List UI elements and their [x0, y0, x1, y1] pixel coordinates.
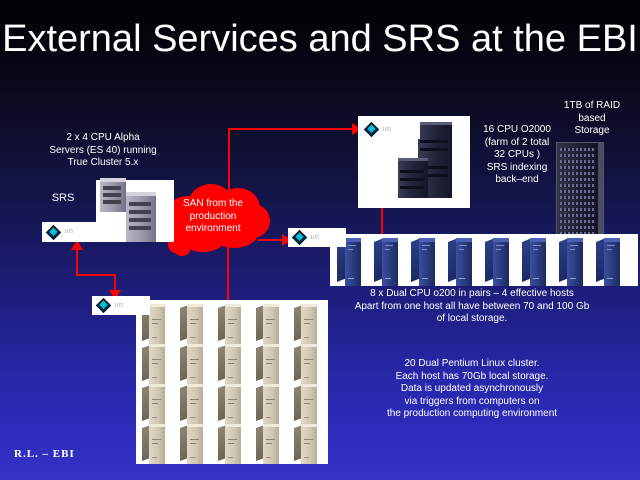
switch-label: 105 [64, 229, 73, 235]
switch-gem-icon [96, 298, 112, 314]
connector-srs-down [76, 246, 78, 276]
linux-cluster-node [294, 424, 318, 464]
connector-elbow-horizontal [76, 274, 116, 276]
linux-cluster-node [294, 384, 318, 424]
o200-server [448, 238, 474, 286]
o200-server [596, 238, 622, 286]
network-switch-o200-row[interactable]: 105 [288, 228, 346, 247]
caption-linux-cluster: 20 Dual Pentium Linux cluster. Each host… [322, 358, 622, 421]
o200-server [411, 238, 437, 286]
linux-cluster-node [218, 304, 242, 344]
presentation-slide: External Services and SRS at the EBI 2 x… [0, 0, 640, 480]
switch-gem-icon [46, 224, 62, 240]
network-switch-cluster[interactable]: 105 [92, 296, 150, 315]
linux-cluster-node [180, 384, 204, 424]
linux-cluster-node [180, 304, 204, 344]
switch-gem-icon [292, 230, 308, 246]
o200-server [559, 238, 585, 286]
linux-cluster-node [142, 384, 166, 424]
network-switch-o2000[interactable]: 105 [360, 120, 420, 139]
network-switch-srs[interactable]: 105 [42, 222, 106, 242]
caption-dual-cpu-o200: 8 x Dual CPU o200 in pairs – 4 effective… [322, 288, 622, 326]
linux-cluster-node [142, 424, 166, 464]
switch-label: 105 [114, 303, 123, 309]
o200-server [485, 238, 511, 286]
slide-footer: R.L. – EBI [14, 448, 75, 460]
linux-cluster-node [180, 344, 204, 384]
linux-cluster-node [218, 384, 242, 424]
linux-cluster-node [218, 424, 242, 464]
linux-cluster-node [180, 424, 204, 464]
raid-storage-rack [556, 142, 604, 242]
connector-o2000-down [381, 205, 383, 235]
o2000-front-unit [398, 158, 428, 198]
linux-cluster-node [256, 424, 280, 464]
san-cloud-text: SAN from the production environment [152, 198, 274, 236]
alpha-server-1 [100, 178, 126, 212]
connector-top-horizontal [228, 128, 356, 130]
caption-raid-storage: 1TB of RAID based Storage [546, 100, 638, 138]
linux-cluster-node [256, 344, 280, 384]
o200-server [522, 238, 548, 286]
switch-label: 105 [310, 235, 319, 241]
o200-server [374, 238, 400, 286]
linux-cluster-node [256, 304, 280, 344]
switch-gem-icon [364, 122, 380, 138]
caption-alpha-servers: 2 x 4 CPU Alpha Servers (ES 40) running … [18, 132, 188, 170]
linux-cluster-node [294, 344, 318, 384]
linux-cluster-node [294, 304, 318, 344]
page-title: External Services and SRS at the EBI [0, 18, 640, 61]
switch-label: 105 [382, 127, 391, 133]
linux-cluster-node [142, 344, 166, 384]
linux-cluster-node [256, 384, 280, 424]
linux-cluster-node [218, 344, 242, 384]
label-srs: SRS [38, 192, 88, 205]
